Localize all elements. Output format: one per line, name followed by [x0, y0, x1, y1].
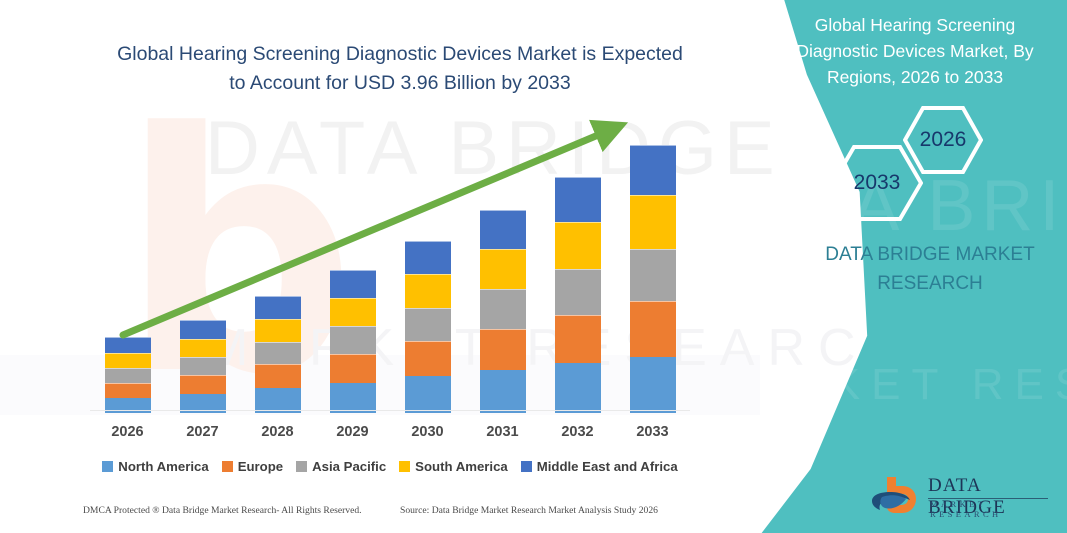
panel-title: Global Hearing Screening Diagnostic Devi… [775, 12, 1055, 90]
bar-segment[interactable] [255, 319, 301, 342]
bar-segment[interactable] [555, 222, 601, 269]
bar-segment[interactable] [330, 383, 376, 413]
x-axis-label-2032: 2032 [548, 424, 608, 440]
bar-segment[interactable] [405, 341, 451, 376]
bar-segment[interactable] [405, 274, 451, 308]
bar-segment[interactable] [630, 195, 676, 249]
bar-segment[interactable] [630, 145, 676, 195]
bar-2027[interactable] [180, 320, 226, 413]
bar-segment[interactable] [555, 315, 601, 363]
bar-segment[interactable] [480, 210, 526, 249]
chart-legend: North AmericaEuropeAsia PacificSouth Ame… [90, 456, 690, 476]
legend-label: Middle East and Africa [537, 459, 678, 474]
bridge-mark-icon [868, 473, 926, 519]
bar-segment[interactable] [255, 342, 301, 364]
bar-2031[interactable] [480, 210, 526, 413]
bar-segment[interactable] [480, 249, 526, 289]
footer-source: Source: Data Bridge Market Research Mark… [400, 505, 658, 516]
x-axis-label-2029: 2029 [323, 424, 383, 440]
bar-segment[interactable] [555, 363, 601, 413]
bar-segment[interactable] [480, 370, 526, 413]
bar-segment[interactable] [630, 249, 676, 301]
legend-item-asia-pacific[interactable]: Asia Pacific [296, 459, 386, 474]
bar-segment[interactable] [330, 298, 376, 326]
footer: DMCA Protected ® Data Bridge Market Rese… [0, 505, 700, 527]
bar-2030[interactable] [405, 241, 451, 413]
legend-swatch-icon [296, 461, 307, 472]
bar-segment[interactable] [330, 270, 376, 298]
logo-tagline: MARKET RESEARCH [930, 499, 1058, 519]
x-axis-labels: 20262027202820292030203120322033 [90, 424, 690, 446]
legend-item-middle-east-and-africa[interactable]: Middle East and Africa [521, 459, 678, 474]
bar-2028[interactable] [255, 296, 301, 413]
bar-segment[interactable] [180, 339, 226, 357]
legend-item-south-america[interactable]: South America [399, 459, 508, 474]
legend-label: South America [415, 459, 508, 474]
hexagon-badge-2026-label: 2026 [920, 128, 967, 152]
bar-segment[interactable] [330, 354, 376, 383]
bar-segment[interactable] [180, 320, 226, 339]
x-axis-label-2026: 2026 [98, 424, 158, 440]
bar-segment[interactable] [180, 357, 226, 375]
legend-label: North America [118, 459, 208, 474]
legend-label: Europe [238, 459, 283, 474]
data-bridge-logo: DATA BRIDGE MARKET RESEARCH [868, 473, 1058, 519]
legend-item-north-america[interactable]: North America [102, 459, 208, 474]
hexagon-badge-2026: 2026 [903, 105, 983, 175]
bar-segment[interactable] [480, 289, 526, 329]
infographic-canvas: b DATA BRIDGE MARKET RESEARCH Global Hea… [0, 0, 1067, 533]
bar-segment[interactable] [555, 269, 601, 315]
legend-item-europe[interactable]: Europe [222, 459, 283, 474]
bar-segment[interactable] [105, 337, 151, 353]
chart-title: Global Hearing Screening Diagnostic Devi… [110, 40, 690, 98]
panel-brand-text: DATA BRIDGE MARKET RESEARCH [810, 240, 1050, 298]
footer-copyright: DMCA Protected ® Data Bridge Market Rese… [83, 505, 362, 516]
bar-segment[interactable] [255, 364, 301, 388]
hexagon-badge-2033-label: 2033 [854, 171, 901, 195]
stacked-bar-chart [90, 118, 690, 413]
bar-segment[interactable] [630, 301, 676, 357]
chart-baseline [90, 410, 690, 411]
bar-segment[interactable] [105, 353, 151, 368]
bar-2032[interactable] [555, 177, 601, 413]
bar-2029[interactable] [330, 270, 376, 413]
bar-segment[interactable] [255, 296, 301, 319]
bar-segment[interactable] [405, 308, 451, 341]
bar-segment[interactable] [555, 177, 601, 222]
x-axis-label-2027: 2027 [173, 424, 233, 440]
legend-label: Asia Pacific [312, 459, 386, 474]
bar-segment[interactable] [330, 326, 376, 354]
legend-swatch-icon [521, 461, 532, 472]
bar-segment[interactable] [630, 357, 676, 413]
bar-segment[interactable] [480, 329, 526, 370]
legend-swatch-icon [102, 461, 113, 472]
legend-swatch-icon [222, 461, 233, 472]
bar-2033[interactable] [630, 145, 676, 413]
x-axis-label-2033: 2033 [623, 424, 683, 440]
legend-swatch-icon [399, 461, 410, 472]
bar-segment[interactable] [105, 383, 151, 398]
bar-2026[interactable] [105, 337, 151, 413]
bar-segment[interactable] [405, 241, 451, 274]
bar-segment[interactable] [105, 368, 151, 383]
x-axis-label-2030: 2030 [398, 424, 458, 440]
x-axis-label-2028: 2028 [248, 424, 308, 440]
bar-segment[interactable] [405, 376, 451, 413]
x-axis-label-2031: 2031 [473, 424, 533, 440]
bar-segment[interactable] [180, 375, 226, 394]
